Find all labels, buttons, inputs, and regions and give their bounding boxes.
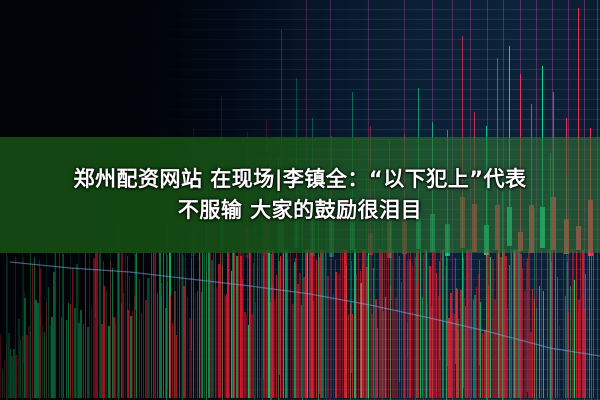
- news-thumbnail: 郑州配资网站 在现场|李镇全：“以下犯上”代表 不服输 大家的鼓励很泪目: [0, 0, 600, 400]
- headline-line-2: 不服输 大家的鼓励很泪目: [178, 195, 422, 226]
- headline-banner: 郑州配资网站 在现场|李镇全：“以下犯上”代表 不服输 大家的鼓励很泪目: [0, 137, 600, 253]
- headline-line-1: 郑州配资网站 在现场|李镇全：“以下犯上”代表: [73, 164, 526, 195]
